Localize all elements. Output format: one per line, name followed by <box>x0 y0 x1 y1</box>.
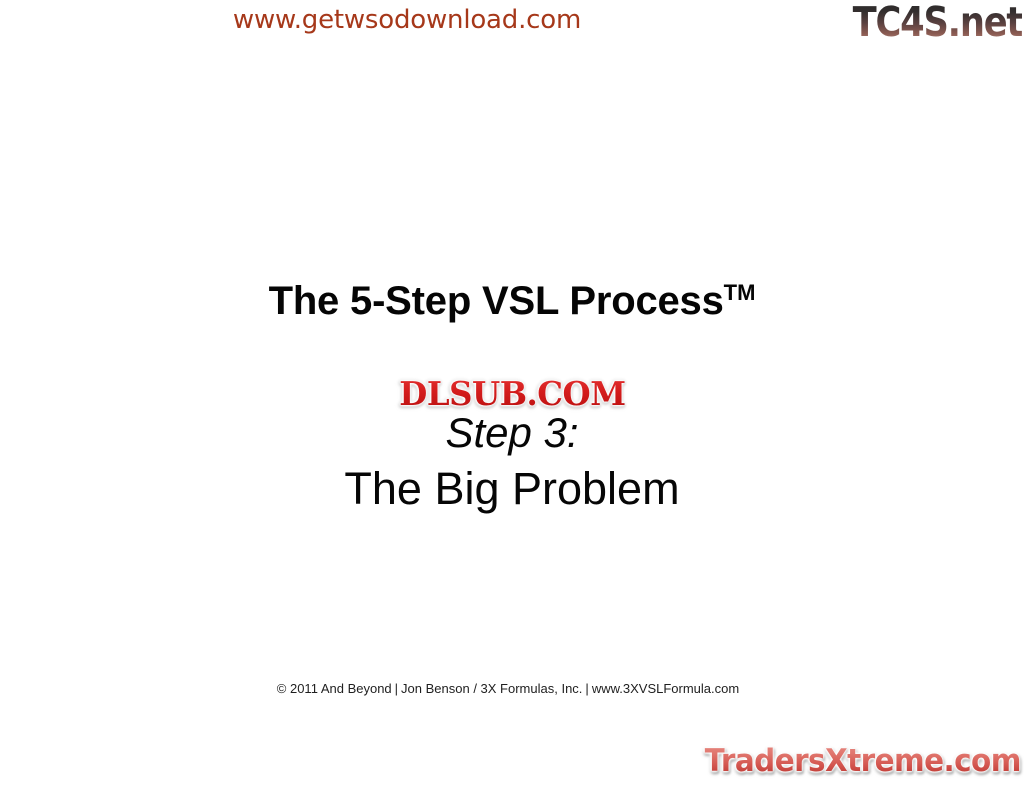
page-title-text: The 5-Step VSL Process <box>269 279 724 323</box>
presentation-slide: www.getwsodownload.com TC4S.net The 5-St… <box>0 0 1024 791</box>
tc4s-logo: TC4S.net <box>852 0 1022 46</box>
footer-copyright: © 2011 And Beyond|Jon Benson / 3X Formul… <box>0 681 1024 696</box>
step-subtitle: The Big Problem <box>0 463 1024 515</box>
copyright-separator-1: | <box>392 681 401 696</box>
dlsub-watermark-text: DLSUB.COM <box>399 374 625 413</box>
copyright-website: www.3XVSLFormula.com <box>592 681 739 696</box>
dlsub-watermark: DLSUB.COM <box>0 374 1024 413</box>
tradersxtreme-logo: TradersXtreme.com <box>705 743 1021 779</box>
copyright-year-text: © 2011 And Beyond <box>277 681 392 696</box>
step-label: Step 3: <box>0 409 1024 457</box>
page-title: The 5-Step VSL ProcessTM <box>0 279 1024 324</box>
copyright-separator-2: | <box>582 681 591 696</box>
trademark-symbol: TM <box>724 280 756 305</box>
copyright-author: Jon Benson / 3X Formulas, Inc. <box>401 681 582 696</box>
